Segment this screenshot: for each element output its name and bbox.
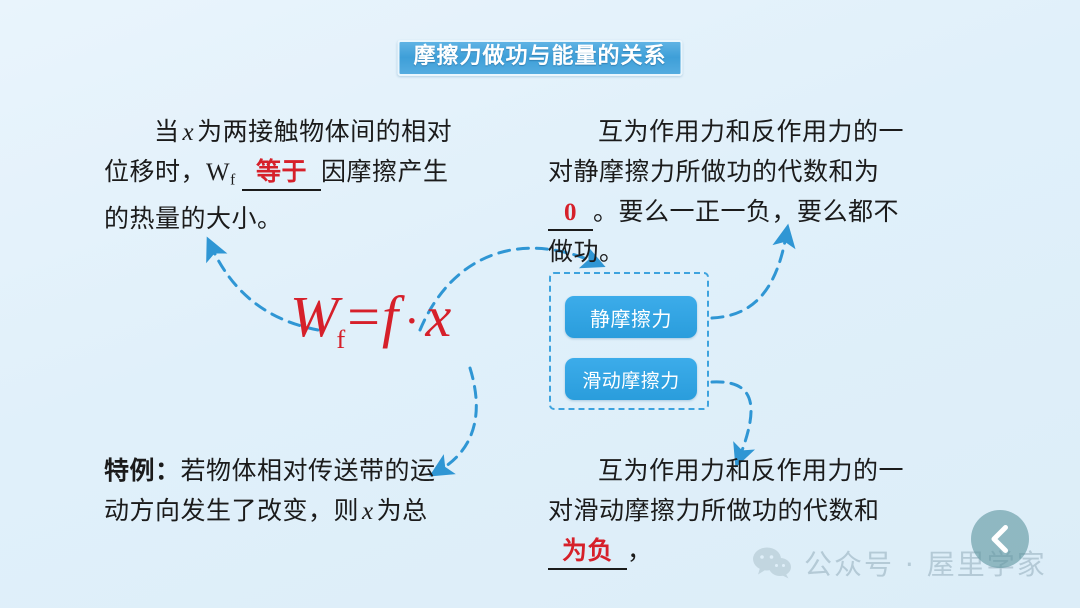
friction-type-group: 静摩擦力 滑动摩擦力 <box>549 272 709 410</box>
br-segment-1: 互为作用力和反作用力的一对滑动摩擦力所做功的代数和 <box>548 458 904 525</box>
button-kinetic-friction-label: 滑动摩擦力 <box>582 366 680 393</box>
slide-canvas: 摩擦力做功与能量的关系 当x为两接触物体间的相对位移时，Wf 等于因摩擦产生的热… <box>0 0 1080 608</box>
br-blank-answer: 为负 <box>548 537 627 570</box>
tl-blank-answer: 等于 <box>242 158 321 191</box>
tr-blank-answer: 0 <box>548 198 593 231</box>
button-kinetic-friction[interactable]: 滑动摩擦力 <box>565 358 697 400</box>
formula-multiply-dot: · <box>404 296 419 347</box>
slide-title-banner: 摩擦力做功与能量的关系 <box>397 40 682 76</box>
text-block-work-definition: 当x为两接触物体间的相对位移时，Wf 等于因摩擦产生的热量的大小。 <box>104 113 454 240</box>
bl-variable-x: x <box>359 498 377 525</box>
back-button[interactable] <box>971 510 1029 568</box>
tr-segment-2: 。要么一正一负，要么都不做功。 <box>548 199 899 266</box>
tl-segment-1: 当 <box>154 119 180 146</box>
br-segment-2: ， <box>627 538 653 565</box>
text-block-static-friction-pair: 互为作用力和反作用力的一对静摩擦力所做功的代数和为0。要么一正一负，要么都不做功… <box>548 113 920 273</box>
central-formula: Wf=f·x <box>290 288 451 353</box>
arrow-kinetic-to-bottom-right <box>712 382 751 456</box>
formula-subscript-f: f <box>336 324 345 354</box>
tl-subscript-f: f <box>230 171 235 188</box>
page-title: 摩擦力做功与能量的关系 <box>413 44 666 69</box>
formula-force-f: f <box>382 284 398 349</box>
button-static-friction[interactable]: 静摩擦力 <box>565 296 697 338</box>
bl-lead-label: 特例： <box>104 458 181 485</box>
tr-segment-1: 互为作用力和反作用力的一对静摩擦力所做功的代数和为 <box>548 119 904 186</box>
bl-segment-2: 为总 <box>377 498 428 525</box>
button-static-friction-label: 静摩擦力 <box>590 303 672 332</box>
formula-equals: = <box>347 284 380 349</box>
text-block-special-case: 特例：若物体相对传送带的运动方向发生了改变，则x为总 <box>104 452 456 532</box>
formula-displacement-x: x <box>426 284 452 349</box>
tl-variable-x: x <box>180 119 198 146</box>
formula-symbol-w: W <box>290 284 338 349</box>
chevron-left-icon <box>987 524 1013 554</box>
wechat-icon <box>752 547 792 579</box>
